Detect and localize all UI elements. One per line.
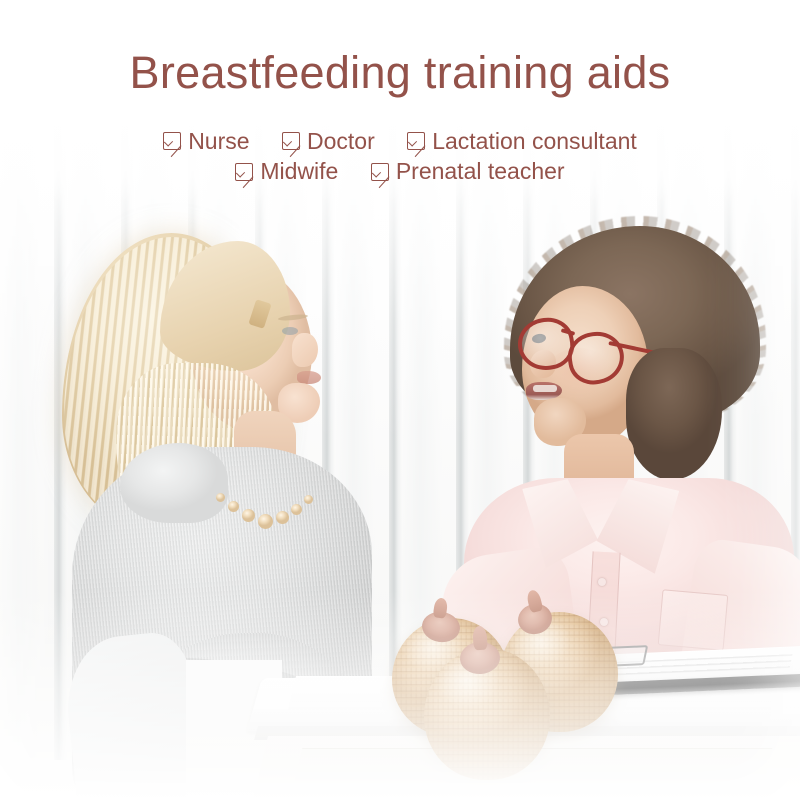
audience-row-1: Nurse Doctor Lactation consultant [0, 126, 800, 156]
teeth [533, 385, 557, 392]
checked-box-icon [163, 132, 181, 150]
hair-side [626, 348, 722, 480]
audience-item-prenatal-teacher: Prenatal teacher [371, 156, 565, 186]
audience-label: Lactation consultant [432, 126, 637, 156]
checked-box-icon [407, 132, 425, 150]
shoulder [120, 443, 228, 523]
audience-label: Doctor [307, 126, 375, 156]
audience-row-2: Midwife Prenatal teacher [0, 156, 800, 186]
audience-item-midwife: Midwife [235, 156, 338, 186]
audience-item-lactation-consultant: Lactation consultant [407, 126, 637, 156]
checked-box-icon [282, 132, 300, 150]
audience-label: Midwife [260, 156, 338, 186]
bottom-wash [0, 590, 800, 800]
nose [292, 333, 318, 367]
audience-label: Nurse [188, 126, 249, 156]
audience-checklist: Nurse Doctor Lactation consultant Midwif… [0, 126, 800, 187]
checked-box-icon [235, 163, 253, 181]
promo-image: Breastfeeding training aids Nurse Doctor… [0, 0, 800, 800]
checked-box-icon [371, 163, 389, 181]
audience-item-nurse: Nurse [163, 126, 249, 156]
page-title: Breastfeeding training aids [0, 48, 800, 98]
blouse-button [598, 578, 606, 586]
necklace [216, 491, 324, 535]
audience-label: Prenatal teacher [396, 156, 565, 186]
audience-item-doctor: Doctor [282, 126, 375, 156]
eye [282, 327, 298, 335]
